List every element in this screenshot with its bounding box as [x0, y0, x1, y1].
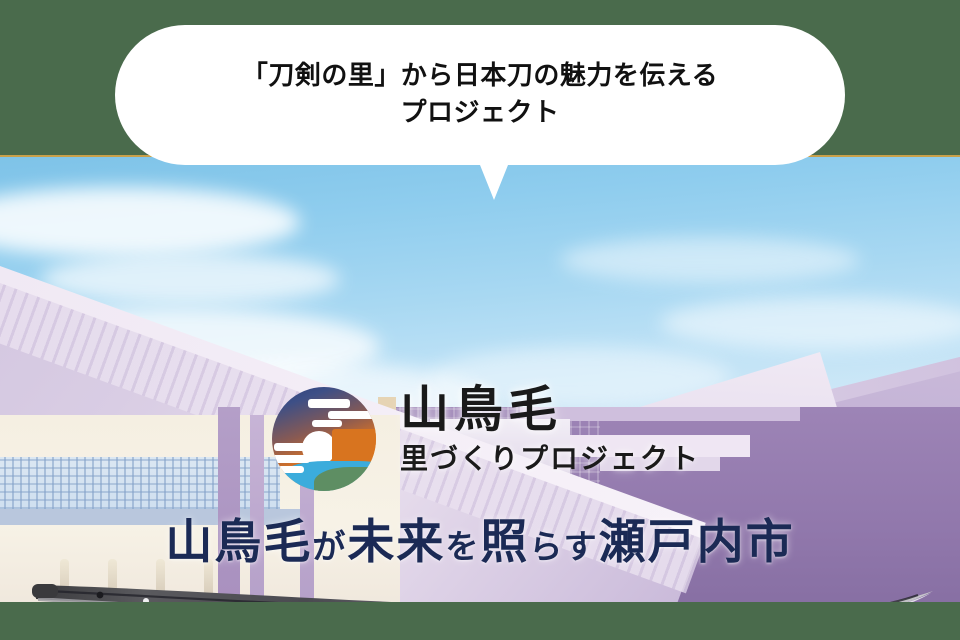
speech-bubble-line-1: 「刀剣の里」から日本刀の魅力を伝える	[242, 58, 718, 95]
yamatorige-sunrise-emblem-icon	[272, 387, 376, 491]
katana-blade	[0, 557, 960, 602]
project-logo: 山鳥毛 里づくりプロジェクト	[272, 385, 702, 495]
page-root: 山鳥毛 里づくりプロジェクト 山鳥毛が未来を照らす瀬戸内市	[0, 0, 960, 640]
page-footer-strip	[0, 602, 960, 640]
speech-bubble-text: 「刀剣の里」から日本刀の魅力を伝える プロジェクト	[242, 58, 718, 132]
speech-bubble: 「刀剣の里」から日本刀の魅力を伝える プロジェクト	[115, 25, 845, 165]
logo-subtitle: 里づくりプロジェクト	[400, 445, 700, 473]
speech-bubble-tail	[478, 160, 510, 200]
cloud-shape	[560, 237, 860, 283]
katana-blade-shape	[28, 575, 938, 602]
cloud-shape	[660, 297, 960, 349]
speech-bubble-line-2: プロジェクト	[242, 95, 718, 132]
hero-image-card: 山鳥毛 里づくりプロジェクト 山鳥毛が未来を照らす瀬戸内市	[0, 155, 960, 602]
logo-title: 山鳥毛	[400, 385, 562, 434]
